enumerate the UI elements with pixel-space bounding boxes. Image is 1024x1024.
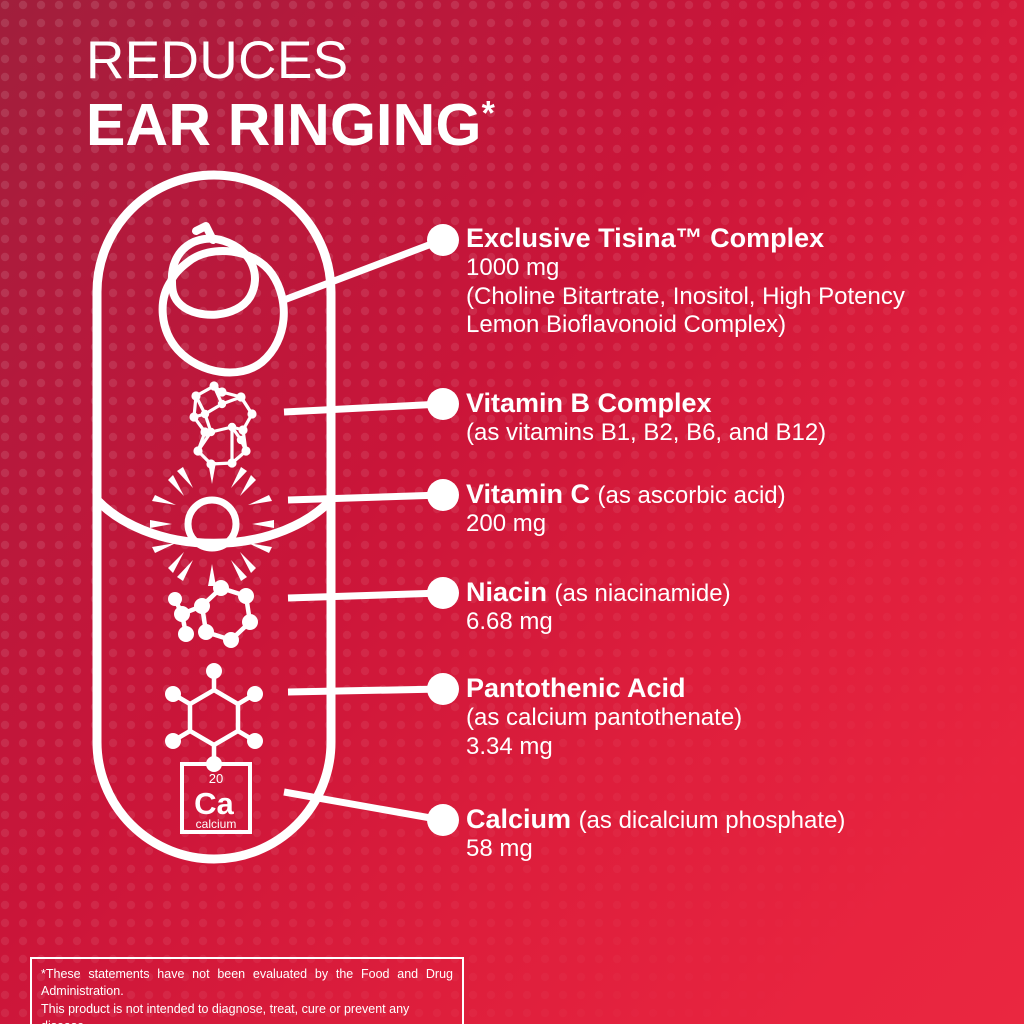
ingredient-inline-sub: (as ascorbic acid) — [598, 482, 786, 509]
ingredient-detail-line: 200 mg — [466, 510, 786, 539]
sun-rays — [150, 462, 274, 586]
bullet-dot-calcium — [427, 804, 459, 836]
ingredient-pantothenic-acid: Pantothenic Acid (as calcium pantothenat… — [466, 673, 742, 761]
ingredient-title: Exclusive Tisina™ Complex — [466, 223, 905, 254]
leader-line-niacin — [288, 593, 442, 598]
bullet-dot-pantothenic — [427, 673, 459, 705]
bullet-dot-tisina — [427, 224, 459, 256]
ingredient-detail-line: (as vitamins B1, B2, B6, and B12) — [466, 419, 826, 448]
ingredient-detail-line: 3.34 mg — [466, 733, 742, 762]
pantothenic-molecule-icon — [165, 663, 263, 772]
ingredient-title: Vitamin B Complex — [466, 388, 826, 419]
ingredient-niacin: Niacin (as niacinamide) 6.68 mg — [466, 577, 731, 637]
disclaimer-line-2: This product is not intended to diagnose… — [41, 1001, 453, 1024]
ingredient-title: Pantothenic Acid — [466, 673, 742, 704]
molecule-cluster-icon — [189, 381, 256, 468]
calcium-symbol: Ca — [194, 786, 234, 821]
ingredient-detail-line: 1000 mg — [466, 254, 905, 283]
ingredient-title: Niacin (as niacinamide) — [466, 577, 731, 608]
bullet-dot-vitamin-c — [427, 479, 459, 511]
ingredient-detail-line: Lemon Bioflavonoid Complex) — [466, 311, 905, 340]
ingredient-detail-line: (as calcium pantothenate) — [466, 704, 742, 733]
calcium-element-icon: 20 Ca calcium — [182, 764, 250, 832]
infographic-canvas: REDUCES EAR RINGING* — [0, 0, 1024, 1024]
leader-line-tisina — [284, 240, 442, 300]
calcium-atomic-number: 20 — [209, 771, 223, 786]
ingredient-detail-line: 58 mg — [466, 835, 845, 864]
ingredient-tisina: Exclusive Tisina™ Complex 1000 mg (Choli… — [466, 223, 905, 340]
leader-line-vitamin-c — [288, 495, 442, 500]
bullet-dot-niacin — [427, 577, 459, 609]
calcium-element-name: calcium — [196, 817, 237, 831]
leader-line-vitamin-b — [284, 404, 442, 412]
ingredient-title: Calcium (as dicalcium phosphate) — [466, 804, 845, 835]
disclaimer-box: *These statements have not been evaluate… — [30, 957, 464, 1024]
sun-icon — [150, 462, 274, 586]
ingredient-vitamin-b: Vitamin B Complex (as vitamins B1, B2, B… — [466, 388, 826, 448]
ingredient-detail-line: 6.68 mg — [466, 608, 731, 637]
ingredient-detail-line: (Choline Bitartrate, Inositol, High Pote… — [466, 283, 905, 312]
ingredient-calcium: Calcium (as dicalcium phosphate) 58 mg — [466, 804, 845, 864]
leader-line-pantothenic — [288, 689, 442, 692]
disclaimer-line-1: *These statements have not been evaluate… — [41, 966, 453, 1001]
ingredient-inline-sub: (as dicalcium phosphate) — [579, 807, 846, 834]
lemon-icon — [163, 226, 284, 372]
ingredient-title: Vitamin C (as ascorbic acid) — [466, 479, 786, 510]
ingredient-vitamin-c: Vitamin C (as ascorbic acid) 200 mg — [466, 479, 786, 539]
niacin-molecule-icon — [168, 580, 258, 648]
capsule-divider — [97, 500, 331, 543]
ingredient-inline-sub: (as niacinamide) — [555, 580, 731, 607]
bullet-dot-vitamin-b — [427, 388, 459, 420]
